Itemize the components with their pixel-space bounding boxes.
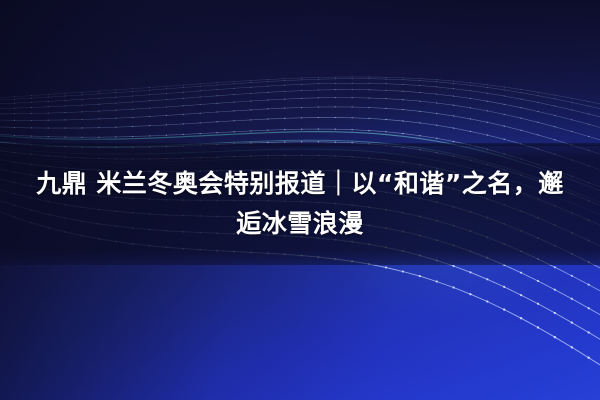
banner-image: 九鼎 米兰冬奥会特别报道｜以“和谐”之名，邂 逅冰雪浪漫	[0, 0, 600, 400]
title-line-1: 九鼎 米兰冬奥会特别报道｜以“和谐”之名，邂	[36, 164, 564, 204]
title-line-2: 逅冰雪浪漫	[236, 204, 364, 244]
title-container: 九鼎 米兰冬奥会特别报道｜以“和谐”之名，邂 逅冰雪浪漫	[0, 143, 600, 265]
